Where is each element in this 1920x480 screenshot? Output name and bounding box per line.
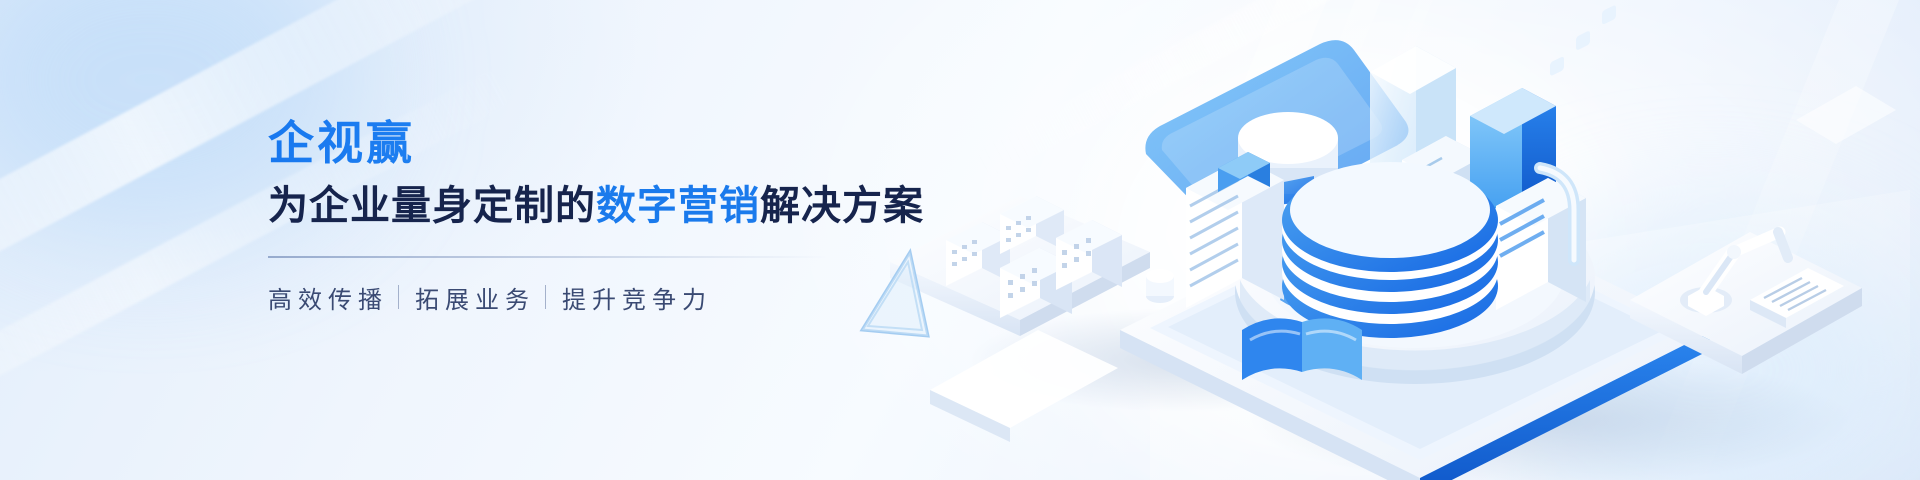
headline-highlight: 数字营销 (596, 184, 760, 228)
illustration-svg (850, 0, 1920, 480)
banner-copy: 企视赢 为企业量身定制的数字营销解决方案 高效传播 拓展业务 提升竞争力 (268, 118, 908, 315)
headline: 为企业量身定制的数字营销解决方案 (268, 183, 908, 230)
feature-item-3: 提升竞争力 (562, 280, 712, 315)
feature-item-1: 高效传播 (268, 280, 388, 315)
led-indicator-row (1550, 0, 1642, 77)
cylinder-knob (1146, 269, 1174, 303)
feature-item-2: 拓展业务 (415, 280, 535, 315)
floating-card (1796, 86, 1896, 144)
headline-prefix: 为企业量身定制的 (268, 184, 596, 228)
feature-separator-1 (398, 285, 399, 309)
feature-list: 高效传播 拓展业务 提升竞争力 (268, 280, 908, 315)
copy-divider (268, 256, 828, 258)
marketing-banner: 企视赢 为企业量身定制的数字营销解决方案 高效传播 拓展业务 提升竞争力 (0, 0, 1920, 480)
blue-paper-cards (1242, 318, 1362, 380)
brand-name: 企视赢 (268, 118, 908, 169)
feature-separator-2 (545, 285, 546, 309)
layered-disc-stack (1282, 162, 1498, 338)
isometric-illustration (850, 0, 1920, 480)
